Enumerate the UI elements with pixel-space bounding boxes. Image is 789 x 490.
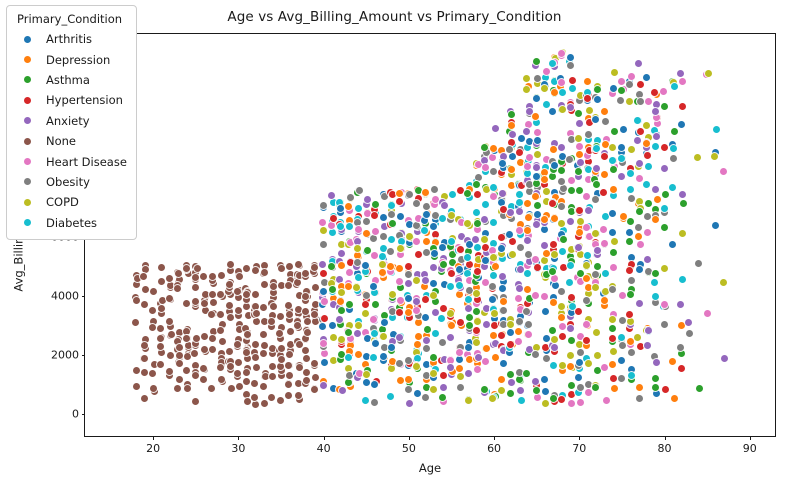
legend-item-none[interactable]: None	[15, 131, 127, 151]
data-point-none	[193, 335, 200, 342]
data-point-none	[304, 329, 311, 336]
data-point-asthma	[430, 354, 437, 361]
legend-item-depression[interactable]: Depression	[15, 49, 127, 69]
data-point-none	[312, 374, 319, 381]
data-point-depression	[338, 262, 345, 269]
data-point-asthma	[575, 110, 582, 117]
data-point-anxiety	[422, 277, 429, 284]
data-point-hypertension	[542, 344, 549, 351]
data-point-depression	[515, 328, 522, 335]
data-point-anxiety	[472, 236, 479, 243]
data-point-obesity	[517, 244, 524, 251]
data-point-obesity	[457, 384, 464, 391]
data-point-arthritis	[364, 335, 371, 342]
data-point-none	[286, 263, 293, 270]
data-point-obesity	[543, 355, 550, 362]
data-point-arthritis	[678, 121, 685, 128]
data-point-heart-disease	[489, 154, 496, 161]
data-point-copd	[523, 75, 530, 82]
data-point-copd	[362, 310, 369, 317]
data-point-none	[201, 300, 208, 307]
legend-item-copd[interactable]: COPD	[15, 192, 127, 212]
data-point-hypertension	[466, 261, 473, 268]
data-point-anxiety	[507, 209, 514, 216]
data-point-asthma	[696, 385, 703, 392]
legend-entries: ArthritisDepressionAsthmaHypertensionAnx…	[15, 29, 127, 233]
data-point-anxiety	[354, 330, 361, 337]
data-point-anxiety	[483, 321, 490, 328]
data-point-none	[176, 360, 183, 367]
data-point-depression	[397, 377, 404, 384]
data-point-depression	[500, 298, 507, 305]
data-point-anxiety	[481, 263, 488, 270]
data-point-arthritis	[543, 335, 550, 342]
data-point-none	[252, 303, 259, 310]
data-point-copd	[355, 322, 362, 329]
data-point-arthritis	[618, 144, 625, 151]
data-point-diabetes	[524, 170, 531, 177]
x-tick-label: 90	[743, 442, 757, 455]
data-point-heart-disease	[525, 331, 532, 338]
data-point-depression	[405, 309, 412, 316]
data-point-anxiety	[677, 70, 684, 77]
data-point-anxiety	[465, 305, 472, 312]
data-point-obesity	[617, 97, 624, 104]
data-point-none	[210, 299, 217, 306]
data-point-anxiety	[405, 280, 412, 287]
legend-item-hypertension[interactable]: Hypertension	[15, 90, 127, 110]
data-point-asthma	[662, 191, 669, 198]
data-point-hypertension	[584, 95, 591, 102]
data-point-none	[132, 319, 139, 326]
data-point-arthritis	[626, 229, 633, 236]
data-point-diabetes	[524, 144, 531, 151]
data-point-none	[133, 383, 140, 390]
data-point-none	[277, 313, 284, 320]
data-point-hypertension	[560, 264, 567, 271]
data-point-asthma	[466, 314, 473, 321]
data-point-copd	[661, 265, 668, 272]
data-point-asthma	[473, 181, 480, 188]
data-point-diabetes	[371, 330, 378, 337]
data-point-arthritis	[541, 226, 548, 233]
data-point-diabetes	[490, 184, 497, 191]
data-point-depression	[490, 145, 497, 152]
data-point-copd	[558, 220, 565, 227]
data-point-hypertension	[448, 270, 455, 277]
data-point-none	[304, 318, 311, 325]
data-point-obesity	[628, 277, 635, 284]
data-point-obesity	[652, 299, 659, 306]
legend-marker-icon	[24, 117, 31, 124]
data-point-asthma	[661, 224, 668, 231]
y-tick	[82, 355, 86, 356]
data-point-arthritis	[423, 361, 430, 368]
data-point-none	[295, 261, 302, 268]
data-point-diabetes	[602, 213, 609, 220]
data-point-asthma	[568, 382, 575, 389]
data-point-diabetes	[652, 293, 659, 300]
data-point-anxiety	[338, 250, 345, 257]
data-point-anxiety	[523, 128, 530, 135]
data-point-heart-disease	[319, 219, 326, 226]
data-point-heart-disease	[660, 88, 667, 95]
data-point-none	[142, 286, 149, 293]
data-point-heart-disease	[600, 226, 607, 233]
legend-item-diabetes[interactable]: Diabetes	[15, 213, 127, 233]
data-point-heart-disease	[489, 247, 496, 254]
data-point-none	[218, 376, 225, 383]
data-point-none	[183, 335, 190, 342]
data-point-hypertension	[610, 375, 617, 382]
plot-axes: 2030405060708090 02000400060008000100001…	[84, 33, 776, 437]
data-point-heart-disease	[601, 240, 608, 247]
data-point-none	[227, 363, 234, 370]
data-point-obesity	[466, 287, 473, 294]
data-point-copd	[602, 288, 609, 295]
data-point-obesity	[516, 369, 523, 376]
data-point-arthritis	[329, 322, 336, 329]
data-point-heart-disease	[515, 295, 522, 302]
data-point-anxiety	[499, 273, 506, 280]
data-point-heart-disease	[583, 321, 590, 328]
data-point-diabetes	[518, 397, 525, 404]
data-point-hypertension	[559, 333, 566, 340]
data-point-arthritis	[552, 282, 559, 289]
data-point-anxiety	[567, 104, 574, 111]
data-point-none	[191, 350, 198, 357]
data-point-hypertension	[508, 139, 515, 146]
data-point-obesity	[637, 98, 644, 105]
data-point-diabetes	[464, 270, 471, 277]
data-point-depression	[524, 227, 531, 234]
data-point-heart-disease	[413, 238, 420, 245]
data-point-anxiety	[328, 192, 335, 199]
data-point-copd	[491, 310, 498, 317]
data-point-heart-disease	[456, 349, 463, 356]
data-point-anxiety	[440, 384, 447, 391]
data-point-heart-disease	[583, 193, 590, 200]
data-point-copd	[380, 333, 387, 340]
data-point-asthma	[533, 180, 540, 187]
data-point-heart-disease	[601, 364, 608, 371]
legend-item-asthma[interactable]: Asthma	[15, 70, 127, 90]
data-point-none	[150, 288, 157, 295]
data-point-copd	[481, 236, 488, 243]
data-point-heart-disease	[372, 228, 379, 235]
data-point-copd	[320, 227, 327, 234]
data-point-obesity	[422, 394, 429, 401]
x-tick-label: 20	[146, 442, 160, 455]
data-point-obesity	[619, 317, 626, 324]
data-point-none	[252, 291, 259, 298]
data-point-anxiety	[652, 186, 659, 193]
data-point-arthritis	[371, 381, 378, 388]
data-point-none	[278, 282, 285, 289]
x-tick	[324, 436, 325, 440]
data-point-copd	[523, 86, 530, 93]
data-point-depression	[423, 238, 430, 245]
data-point-heart-disease	[482, 164, 489, 171]
legend-marker-icon	[24, 138, 31, 145]
data-point-diabetes	[651, 279, 658, 286]
data-point-obesity	[320, 241, 327, 248]
data-point-none	[208, 311, 215, 318]
data-point-depression	[345, 203, 352, 210]
data-point-hypertension	[321, 315, 328, 322]
data-point-obesity	[346, 372, 353, 379]
data-point-diabetes	[549, 60, 556, 67]
data-point-none	[260, 383, 267, 390]
data-point-none	[302, 347, 309, 354]
data-point-obesity	[347, 194, 354, 201]
data-point-copd	[474, 318, 481, 325]
data-point-depression	[354, 252, 361, 259]
data-point-depression	[584, 78, 591, 85]
data-point-copd	[397, 245, 404, 252]
data-point-asthma	[568, 337, 575, 344]
data-point-obesity	[423, 345, 430, 352]
data-point-copd	[593, 329, 600, 336]
data-point-arthritis	[363, 379, 370, 386]
data-point-depression	[422, 189, 429, 196]
data-point-none	[209, 335, 216, 342]
data-point-copd	[592, 230, 599, 237]
legend-marker-icon	[24, 199, 31, 206]
data-point-anxiety	[541, 242, 548, 249]
y-tick	[82, 296, 86, 297]
data-point-none	[260, 331, 267, 338]
data-point-anxiety	[551, 344, 558, 351]
data-point-arthritis	[526, 138, 533, 145]
data-point-none	[286, 351, 293, 358]
data-point-arthritis	[549, 108, 556, 115]
data-point-diabetes	[398, 238, 405, 245]
data-point-asthma	[626, 238, 633, 245]
data-point-none	[251, 380, 258, 387]
x-tick-label: 70	[572, 442, 586, 455]
data-point-diabetes	[628, 372, 635, 379]
legend-item-obesity[interactable]: Obesity	[15, 172, 127, 192]
data-point-none	[192, 372, 199, 379]
data-point-copd	[609, 144, 616, 151]
data-point-hypertension	[637, 343, 644, 350]
data-point-asthma	[423, 384, 430, 391]
data-point-none	[166, 275, 173, 282]
data-point-anxiety	[618, 173, 625, 180]
data-point-obesity	[526, 181, 533, 188]
data-point-none	[226, 302, 233, 309]
data-point-obesity	[405, 386, 412, 393]
data-point-arthritis	[430, 280, 437, 287]
data-point-asthma	[627, 291, 634, 298]
data-point-arthritis	[643, 74, 650, 81]
data-point-depression	[541, 176, 548, 183]
data-point-depression	[379, 269, 386, 276]
data-point-depression	[456, 291, 463, 298]
data-point-none	[244, 398, 251, 405]
data-point-none	[158, 264, 165, 271]
data-point-anxiety	[406, 400, 413, 407]
data-point-diabetes	[643, 181, 650, 188]
data-point-arthritis	[575, 374, 582, 381]
data-point-asthma	[345, 329, 352, 336]
data-point-arthritis	[319, 323, 326, 330]
data-point-arthritis	[669, 241, 676, 248]
data-point-depression	[620, 213, 627, 220]
data-point-asthma	[568, 187, 575, 194]
data-point-none	[167, 352, 174, 359]
data-point-heart-disease	[628, 73, 635, 80]
data-point-none	[302, 270, 309, 277]
data-point-hypertension	[482, 244, 489, 251]
x-tick	[153, 436, 154, 440]
data-point-copd	[609, 316, 616, 323]
data-point-hypertension	[457, 246, 464, 253]
data-point-arthritis	[482, 257, 489, 264]
data-point-none	[227, 314, 234, 321]
data-point-heart-disease	[603, 397, 610, 404]
data-point-none	[243, 378, 250, 385]
data-point-none	[158, 349, 165, 356]
data-point-depression	[492, 263, 499, 270]
data-point-depression	[601, 108, 608, 115]
data-point-copd	[379, 261, 386, 268]
data-point-obesity	[532, 351, 539, 358]
data-point-none	[268, 394, 275, 401]
data-point-none	[192, 398, 199, 405]
data-point-anxiety	[594, 247, 601, 254]
data-point-asthma	[594, 263, 601, 270]
data-point-none	[285, 282, 292, 289]
data-point-depression	[414, 341, 421, 348]
data-point-none	[166, 318, 173, 325]
data-point-copd	[634, 334, 641, 341]
data-point-obesity	[356, 187, 363, 194]
data-point-depression	[583, 275, 590, 282]
data-point-asthma	[611, 128, 618, 135]
data-point-anxiety	[532, 378, 539, 385]
data-point-none	[261, 342, 268, 349]
data-point-arthritis	[534, 211, 541, 218]
scatter-plot-figure: Age vs Avg_Billing_Amount vs Primary_Con…	[0, 0, 789, 490]
data-point-diabetes	[414, 355, 421, 362]
data-point-arthritis	[620, 126, 627, 133]
data-point-arthritis	[592, 116, 599, 123]
data-point-none	[261, 281, 268, 288]
data-point-obesity	[686, 330, 693, 337]
data-point-heart-disease	[515, 338, 522, 345]
data-point-asthma	[508, 111, 515, 118]
data-point-none	[243, 265, 250, 272]
data-point-none	[278, 356, 285, 363]
y-tick-label: 0	[72, 408, 79, 421]
data-point-copd	[413, 363, 420, 370]
data-point-copd	[559, 106, 566, 113]
data-point-heart-disease	[558, 79, 565, 86]
data-point-obesity	[500, 321, 507, 328]
data-point-asthma	[652, 270, 659, 277]
data-point-hypertension	[509, 238, 516, 245]
data-point-depression	[654, 196, 661, 203]
data-point-asthma	[576, 187, 583, 194]
data-point-copd	[543, 188, 550, 195]
data-point-copd	[611, 69, 618, 76]
data-point-none	[175, 270, 182, 277]
data-point-none	[278, 345, 285, 352]
data-point-anxiety	[635, 60, 642, 67]
data-point-copd	[551, 251, 558, 258]
legend[interactable]: Primary_Condition ArthritisDepressionAst…	[6, 5, 137, 240]
data-point-depression	[576, 151, 583, 158]
data-point-hypertension	[549, 200, 556, 207]
data-point-none	[252, 354, 259, 361]
data-point-heart-disease	[585, 389, 592, 396]
data-point-obesity	[585, 381, 592, 388]
data-point-asthma	[507, 390, 514, 397]
legend-item-heart-disease[interactable]: Heart Disease	[15, 151, 127, 171]
data-point-obesity	[500, 307, 507, 314]
data-point-none	[312, 301, 319, 308]
data-point-heart-disease	[618, 78, 625, 85]
data-point-asthma	[568, 208, 575, 215]
data-point-asthma	[533, 387, 540, 394]
data-point-anxiety	[475, 354, 482, 361]
data-point-asthma	[474, 220, 481, 227]
data-point-obesity	[577, 349, 584, 356]
data-point-arthritis	[406, 221, 413, 228]
data-point-none	[269, 373, 276, 380]
legend-item-anxiety[interactable]: Anxiety	[15, 111, 127, 131]
data-point-diabetes	[387, 393, 394, 400]
y-tick-label: 2000	[51, 349, 79, 362]
data-point-none	[311, 386, 318, 393]
legend-title: Primary_Condition	[17, 12, 127, 26]
data-point-none	[277, 397, 284, 404]
data-point-depression	[345, 283, 352, 290]
data-point-diabetes	[669, 184, 676, 191]
data-point-none	[174, 285, 181, 292]
data-point-none	[285, 392, 292, 399]
data-point-anxiety	[644, 256, 651, 263]
data-point-arthritis	[628, 254, 635, 261]
data-point-arthritis	[541, 376, 548, 383]
data-point-heart-disease	[636, 175, 643, 182]
data-point-diabetes	[593, 145, 600, 152]
data-point-asthma	[560, 236, 567, 243]
data-point-none	[217, 364, 224, 371]
legend-marker-icon	[24, 178, 31, 185]
data-point-none	[200, 376, 207, 383]
data-point-none	[157, 343, 164, 350]
data-point-anxiety	[679, 191, 686, 198]
data-point-diabetes	[490, 272, 497, 279]
data-point-hypertension	[678, 365, 685, 372]
data-point-none	[217, 311, 224, 318]
data-point-heart-disease	[413, 307, 420, 314]
data-point-depression	[389, 358, 396, 365]
data-point-diabetes	[464, 254, 471, 261]
data-point-none	[234, 341, 241, 348]
data-point-diabetes	[355, 205, 362, 212]
data-point-copd	[363, 371, 370, 378]
data-point-none	[157, 361, 164, 368]
x-tick	[238, 436, 239, 440]
legend-item-arthritis[interactable]: Arthritis	[15, 29, 127, 49]
data-point-anxiety	[320, 382, 327, 389]
data-point-depression	[415, 319, 422, 326]
data-point-diabetes	[569, 85, 576, 92]
